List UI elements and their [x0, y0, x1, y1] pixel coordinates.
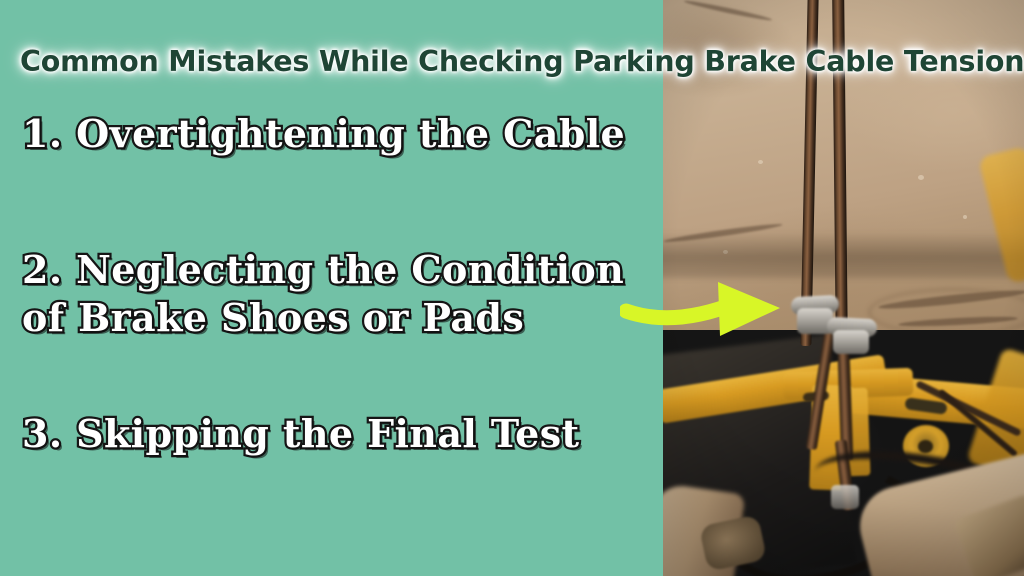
list-item: 1. Overtightening the Cable [22, 110, 625, 158]
undercarriage-photo [663, 0, 1024, 576]
page-title: Common Mistakes While Checking Parking B… [20, 45, 1016, 79]
list-item: 2. Neglecting the Condition of Brake Sho… [22, 246, 662, 342]
photo-vignette [663, 0, 1024, 576]
list-item: 3. Skipping the Final Test [22, 410, 579, 458]
infographic-canvas: Common Mistakes While Checking Parking B… [0, 0, 1024, 576]
